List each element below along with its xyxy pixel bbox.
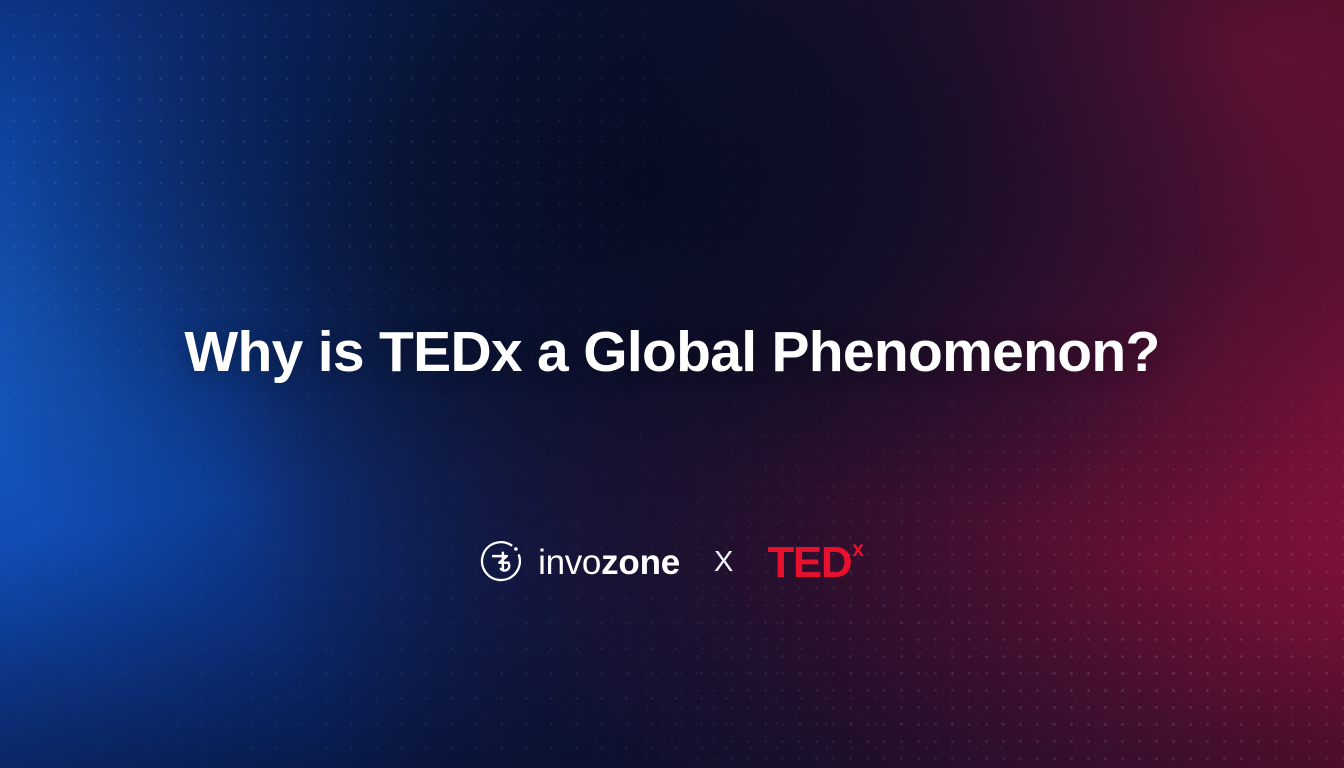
tedx-hero-banner: Why is TEDx a Global Phenomenon? invozon…	[0, 0, 1344, 768]
partner-logo-lockup: invozone X TED x	[0, 540, 1344, 585]
page-title: Why is TEDx a Global Phenomenon?	[184, 322, 1159, 384]
tedx-superscript-x: x	[852, 539, 864, 560]
invozone-wordmark-light: invo	[538, 545, 601, 580]
tedx-wordmark: TED	[767, 541, 851, 585]
invozone-wordmark-bold: zone	[601, 545, 680, 580]
invozone-logo[interactable]: invozone	[480, 540, 680, 585]
invozone-wordmark: invozone	[538, 545, 680, 580]
tedx-logo[interactable]: TED x	[767, 541, 864, 585]
invozone-monogram-icon	[480, 540, 525, 585]
banner-content: Why is TEDx a Global Phenomenon? invozon…	[0, 0, 1344, 768]
logo-separator-x: X	[714, 548, 733, 577]
